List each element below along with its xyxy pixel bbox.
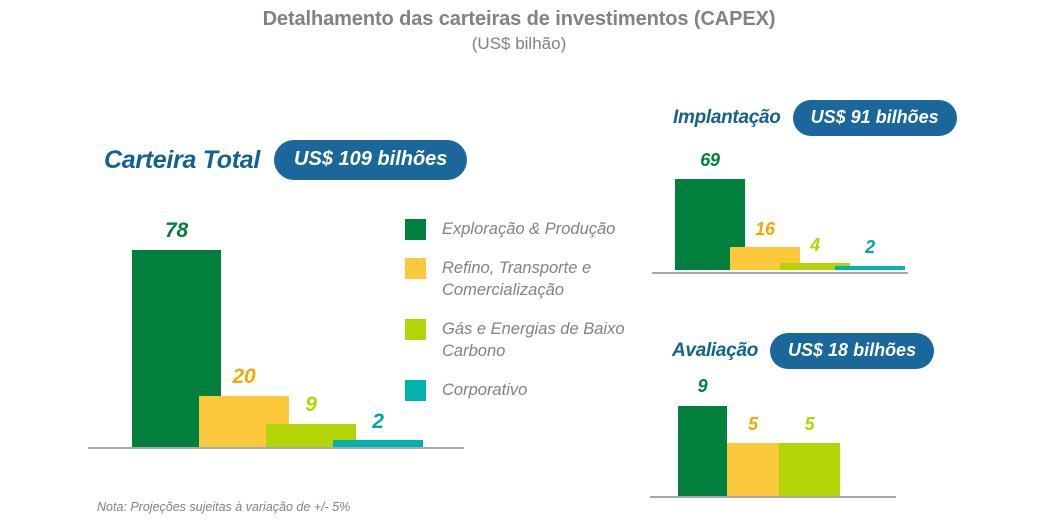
legend-item-exploracao: Exploração & Produção bbox=[405, 218, 640, 240]
header-block: Detalhamento das carteiras de investimen… bbox=[0, 6, 1038, 56]
section-label-carteira-total: Carteira Total bbox=[104, 146, 260, 175]
bar-total-corporativo bbox=[333, 440, 423, 447]
bar-label-implantacao-corporativo: 2 bbox=[835, 237, 905, 258]
bar-label-total-exploracao: 78 bbox=[132, 219, 221, 243]
axis-baseline-total bbox=[88, 447, 464, 449]
bar-implantacao-corporativo bbox=[835, 266, 905, 270]
legend-swatch-refino bbox=[405, 258, 426, 279]
axis-baseline-avaliacao bbox=[650, 496, 896, 498]
legend-label-corporativo: Corporativo bbox=[442, 379, 527, 401]
chart-implantacao: 69 16 4 2 bbox=[652, 145, 922, 275]
axis-baseline-implantacao bbox=[652, 272, 908, 274]
legend-swatch-gas bbox=[405, 319, 426, 340]
chart-avaliacao: 9 5 5 bbox=[650, 370, 920, 500]
footnote: Nota: Projeções sujeitas à variação de +… bbox=[97, 500, 350, 514]
section-label-avaliacao: Avaliação bbox=[672, 340, 758, 362]
legend-label-refino: Refino, Transporte e Comercialização bbox=[442, 257, 640, 301]
bar-label-implantacao-exploracao: 69 bbox=[675, 150, 745, 171]
badge-carteira-total: US$ 109 bilhões bbox=[274, 140, 467, 180]
bar-label-avaliacao-gas: 5 bbox=[779, 414, 840, 435]
bar-avaliacao-exploracao bbox=[678, 406, 727, 496]
section-header-avaliacao: Avaliação US$ 18 bilhões bbox=[672, 333, 934, 369]
page-subtitle: (US$ bilhão) bbox=[0, 32, 1038, 56]
section-header-carteira-total: Carteira Total US$ 109 bilhões bbox=[104, 140, 467, 180]
bar-avaliacao-gas bbox=[779, 443, 840, 496]
legend-label-gas: Gás e Energias de Baixo Carbono bbox=[442, 318, 640, 362]
legend-swatch-corporativo bbox=[405, 380, 426, 401]
legend-swatch-exploracao bbox=[405, 219, 426, 240]
section-label-implantacao: Implantação bbox=[673, 107, 781, 129]
badge-implantacao: US$ 91 bilhões bbox=[793, 100, 957, 136]
legend-label-exploracao: Exploração & Produção bbox=[442, 218, 615, 240]
bar-label-avaliacao-refino: 5 bbox=[727, 414, 779, 435]
legend-item-gas: Gás e Energias de Baixo Carbono bbox=[405, 318, 640, 362]
badge-avaliacao: US$ 18 bilhões bbox=[770, 333, 934, 369]
legend-item-refino: Refino, Transporte e Comercialização bbox=[405, 257, 640, 301]
chart-legend: Exploração & Produção Refino, Transporte… bbox=[405, 218, 640, 418]
bar-label-total-refino: 20 bbox=[199, 365, 289, 389]
page-title: Detalhamento das carteiras de investimen… bbox=[0, 6, 1038, 32]
bar-avaliacao-refino bbox=[727, 443, 779, 496]
section-header-implantacao: Implantação US$ 91 bilhões bbox=[673, 100, 957, 136]
legend-item-corporativo: Corporativo bbox=[405, 379, 640, 401]
bar-label-avaliacao-exploracao: 9 bbox=[678, 376, 727, 397]
